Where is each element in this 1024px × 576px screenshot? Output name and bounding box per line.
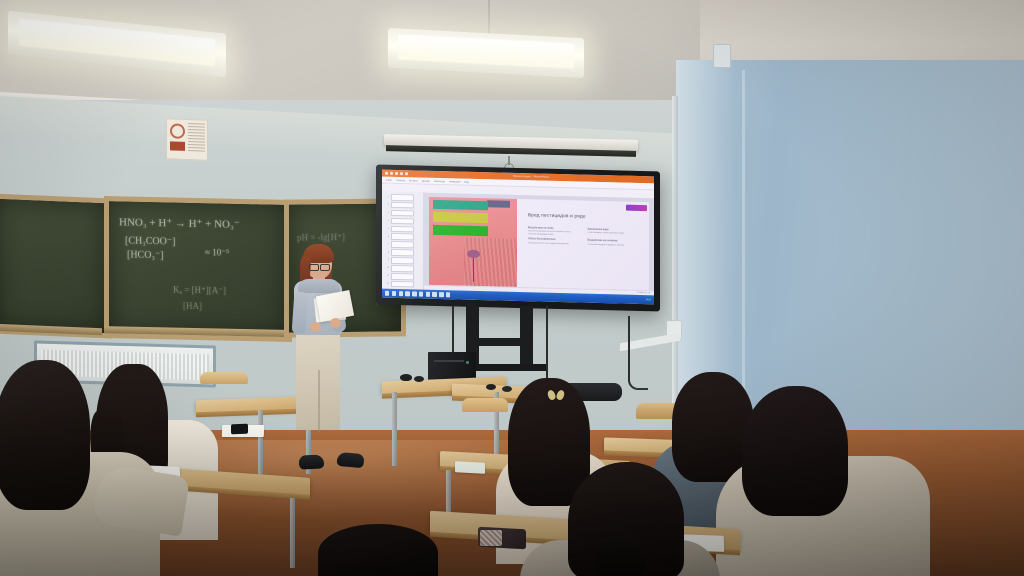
presenter-left-hand — [310, 322, 321, 332]
slide-content-grid: Воздействие на почву Накопление вредных … — [528, 226, 638, 246]
slide-thumbnail[interactable]: 9 — [385, 257, 421, 264]
smartphone[interactable] — [231, 424, 248, 435]
chalk-text: HNO₃ + H⁺ → H⁺ + NO₃⁻ — [119, 215, 240, 231]
ribbon-tab[interactable]: Дизайн — [422, 179, 430, 182]
presenter-right-hand — [330, 318, 341, 328]
slide-canvas[interactable]: Вред пестицидов и ряде Воздействие на по… — [424, 193, 654, 296]
mail-icon[interactable] — [412, 292, 416, 296]
media-player-icon[interactable] — [439, 292, 443, 296]
poster-emblem-icon — [170, 123, 185, 139]
slide-number: 12 — [385, 283, 389, 285]
display-stand-crossbar — [466, 338, 533, 346]
slide-thumbnail[interactable]: 7 — [385, 241, 421, 248]
computer-mouse[interactable] — [414, 376, 424, 382]
interactive-display[interactable]: Презентация - PowerPoint Файл Главная Вс… — [376, 165, 660, 312]
start-button-icon[interactable] — [385, 291, 389, 295]
slide-counter: Слайд 6 из 12 — [637, 292, 650, 294]
presenter-shoe — [299, 454, 325, 469]
display-stand-column — [520, 306, 533, 366]
chalkboard-panel-left — [0, 193, 112, 338]
slide-number: 2 — [385, 204, 389, 206]
computer-mouse[interactable] — [502, 386, 512, 392]
slide-image-stem — [473, 255, 474, 282]
chalk-text: [CH₃COO⁻] — [125, 235, 175, 247]
excel-icon[interactable] — [426, 292, 430, 296]
chalk-text: ≈ 10⁻⁵ — [205, 247, 229, 259]
slide-block-text: Стоки попадают в реки и грунтовые воды — [588, 232, 639, 236]
slide-image-swatch — [433, 212, 488, 223]
computer-mouse[interactable] — [400, 374, 412, 381]
ribbon-tab[interactable]: Главная — [396, 179, 405, 182]
poster-graphic — [167, 119, 186, 159]
poster-color-block — [170, 141, 185, 151]
ribbon-tab[interactable]: Вид — [464, 180, 468, 183]
chalk-text: pH = -lg[H⁺] — [297, 232, 345, 244]
quick-access-toolbar[interactable] — [385, 172, 408, 176]
classroom-scene: HNO₃ + H⁺ → H⁺ + NO₃⁻ [CH₃COO⁻] [HCO₃⁻] … — [0, 0, 1024, 576]
pencil-case-pattern — [480, 530, 502, 546]
slide-image-flower — [467, 249, 479, 257]
current-slide[interactable]: Вред пестицидов и ряде Воздействие на по… — [429, 197, 650, 292]
slide-thumbnail[interactable]: 4 — [385, 217, 421, 224]
slide-text-area: Вред пестицидов и ряде Воздействие на по… — [517, 199, 649, 291]
chalk-text: [HA] — [183, 301, 202, 311]
butterfly-hair-clip-icon — [548, 390, 564, 401]
poster-text-column — [186, 120, 207, 160]
ribbon-tab[interactable]: Переходы — [434, 179, 445, 182]
display-screen[interactable]: Презентация - PowerPoint Файл Главная Вс… — [382, 170, 654, 305]
slide-number: 7 — [385, 243, 389, 245]
slide-number: 3 — [385, 212, 389, 214]
chalk-text: Kₐ = [H⁺][A⁻] — [173, 284, 226, 296]
student-hair — [0, 360, 90, 510]
slide-title: Вред пестицидов и ряде — [528, 212, 638, 220]
slide-image[interactable] — [429, 197, 517, 288]
window-title: Презентация - PowerPoint — [513, 175, 549, 179]
slide-block-text: Сокращение числа пчёл и других опылителе… — [528, 242, 579, 246]
slide-number: 6 — [385, 235, 389, 237]
slide-block-text: Остатки пестицидов в продуктах питания — [588, 243, 639, 247]
desk-leg — [392, 392, 397, 466]
presenter-left-arm — [292, 292, 309, 335]
word-icon[interactable] — [419, 292, 423, 296]
slide-thumbnail[interactable]: 10 — [385, 265, 421, 272]
slide-thumbnail[interactable]: 5 — [385, 225, 421, 232]
slide-block: Воздействие на почву Накопление вредных … — [528, 226, 579, 237]
presenter-hood — [298, 279, 340, 293]
powerpoint-icon[interactable] — [432, 292, 436, 296]
student-hair — [742, 386, 848, 516]
slide-thumbnail-panel[interactable]: 1 2 3 4 5 6 7 8 9 10 11 12 — [382, 192, 424, 290]
optical-drive-slot[interactable] — [434, 360, 464, 362]
student-hair-ponytail — [596, 536, 646, 576]
slide-block: Гибель беспозвоночных Сокращение числа п… — [528, 237, 579, 245]
ribbon-tab[interactable]: Вставка — [409, 179, 418, 182]
explorer-icon[interactable] — [399, 291, 403, 295]
slide-number: 10 — [385, 267, 389, 269]
slide-thumbnail[interactable]: 2 — [385, 202, 421, 209]
slide-thumbnail[interactable]: 3 — [385, 210, 421, 217]
power-cable — [628, 316, 648, 390]
ribbon-tab[interactable]: Файл — [386, 178, 392, 181]
folder-icon[interactable] — [446, 293, 450, 297]
slide-image-swatch — [433, 199, 488, 210]
slide-thumbnail[interactable]: 12 — [385, 281, 421, 288]
slide-image-swatch — [433, 224, 488, 236]
slide-thumbnail[interactable]: 11 — [385, 273, 421, 280]
slide-thumbnail[interactable]: 6 — [385, 233, 421, 240]
browser-icon[interactable] — [405, 292, 409, 296]
slide-number: 8 — [385, 251, 389, 253]
slide-thumbnail[interactable]: 8 — [385, 249, 421, 256]
trouser-seam — [318, 370, 320, 432]
ribbon-tab[interactable]: Анимация — [449, 180, 460, 183]
slide-accent-badge — [626, 204, 647, 211]
chalk-text: [HCO₃⁻] — [127, 250, 164, 262]
chair-backrest[interactable] — [200, 372, 248, 384]
search-icon[interactable] — [392, 291, 396, 295]
slide-number: 1 — [385, 196, 389, 198]
desk-leg — [290, 498, 295, 568]
desk-leg — [258, 410, 263, 482]
slide-number: 4 — [385, 220, 389, 222]
slide-block: Загрязнение воды Стоки попадают в реки и… — [588, 228, 639, 239]
slide-number: 9 — [385, 259, 389, 261]
chalkboard-panel-center: HNO₃ + H⁺ → H⁺ + NO₃⁻ [CH₃COO⁻] [HCO₃⁻] … — [104, 196, 292, 342]
presenter-shoe — [336, 452, 364, 468]
power-led-icon — [466, 361, 469, 364]
wall-poster — [166, 118, 208, 160]
slide-number: 11 — [385, 275, 389, 277]
taskbar-clock[interactable]: 14:22 — [646, 299, 651, 301]
student-hair — [318, 524, 438, 576]
slide-block-text: Накопление вредных веществ в верхних сло… — [528, 231, 579, 238]
computer-mouse[interactable] — [486, 384, 496, 390]
slide-thumbnail[interactable]: 1 — [385, 194, 421, 201]
slide-block: Воздействие на человека Остатки пестицид… — [588, 239, 639, 247]
chair-backrest[interactable] — [462, 398, 508, 412]
slide-number: 5 — [385, 228, 389, 230]
notebook[interactable] — [455, 461, 485, 474]
eyeglasses-icon — [309, 264, 330, 270]
wall-outlet-icon[interactable] — [713, 44, 731, 68]
